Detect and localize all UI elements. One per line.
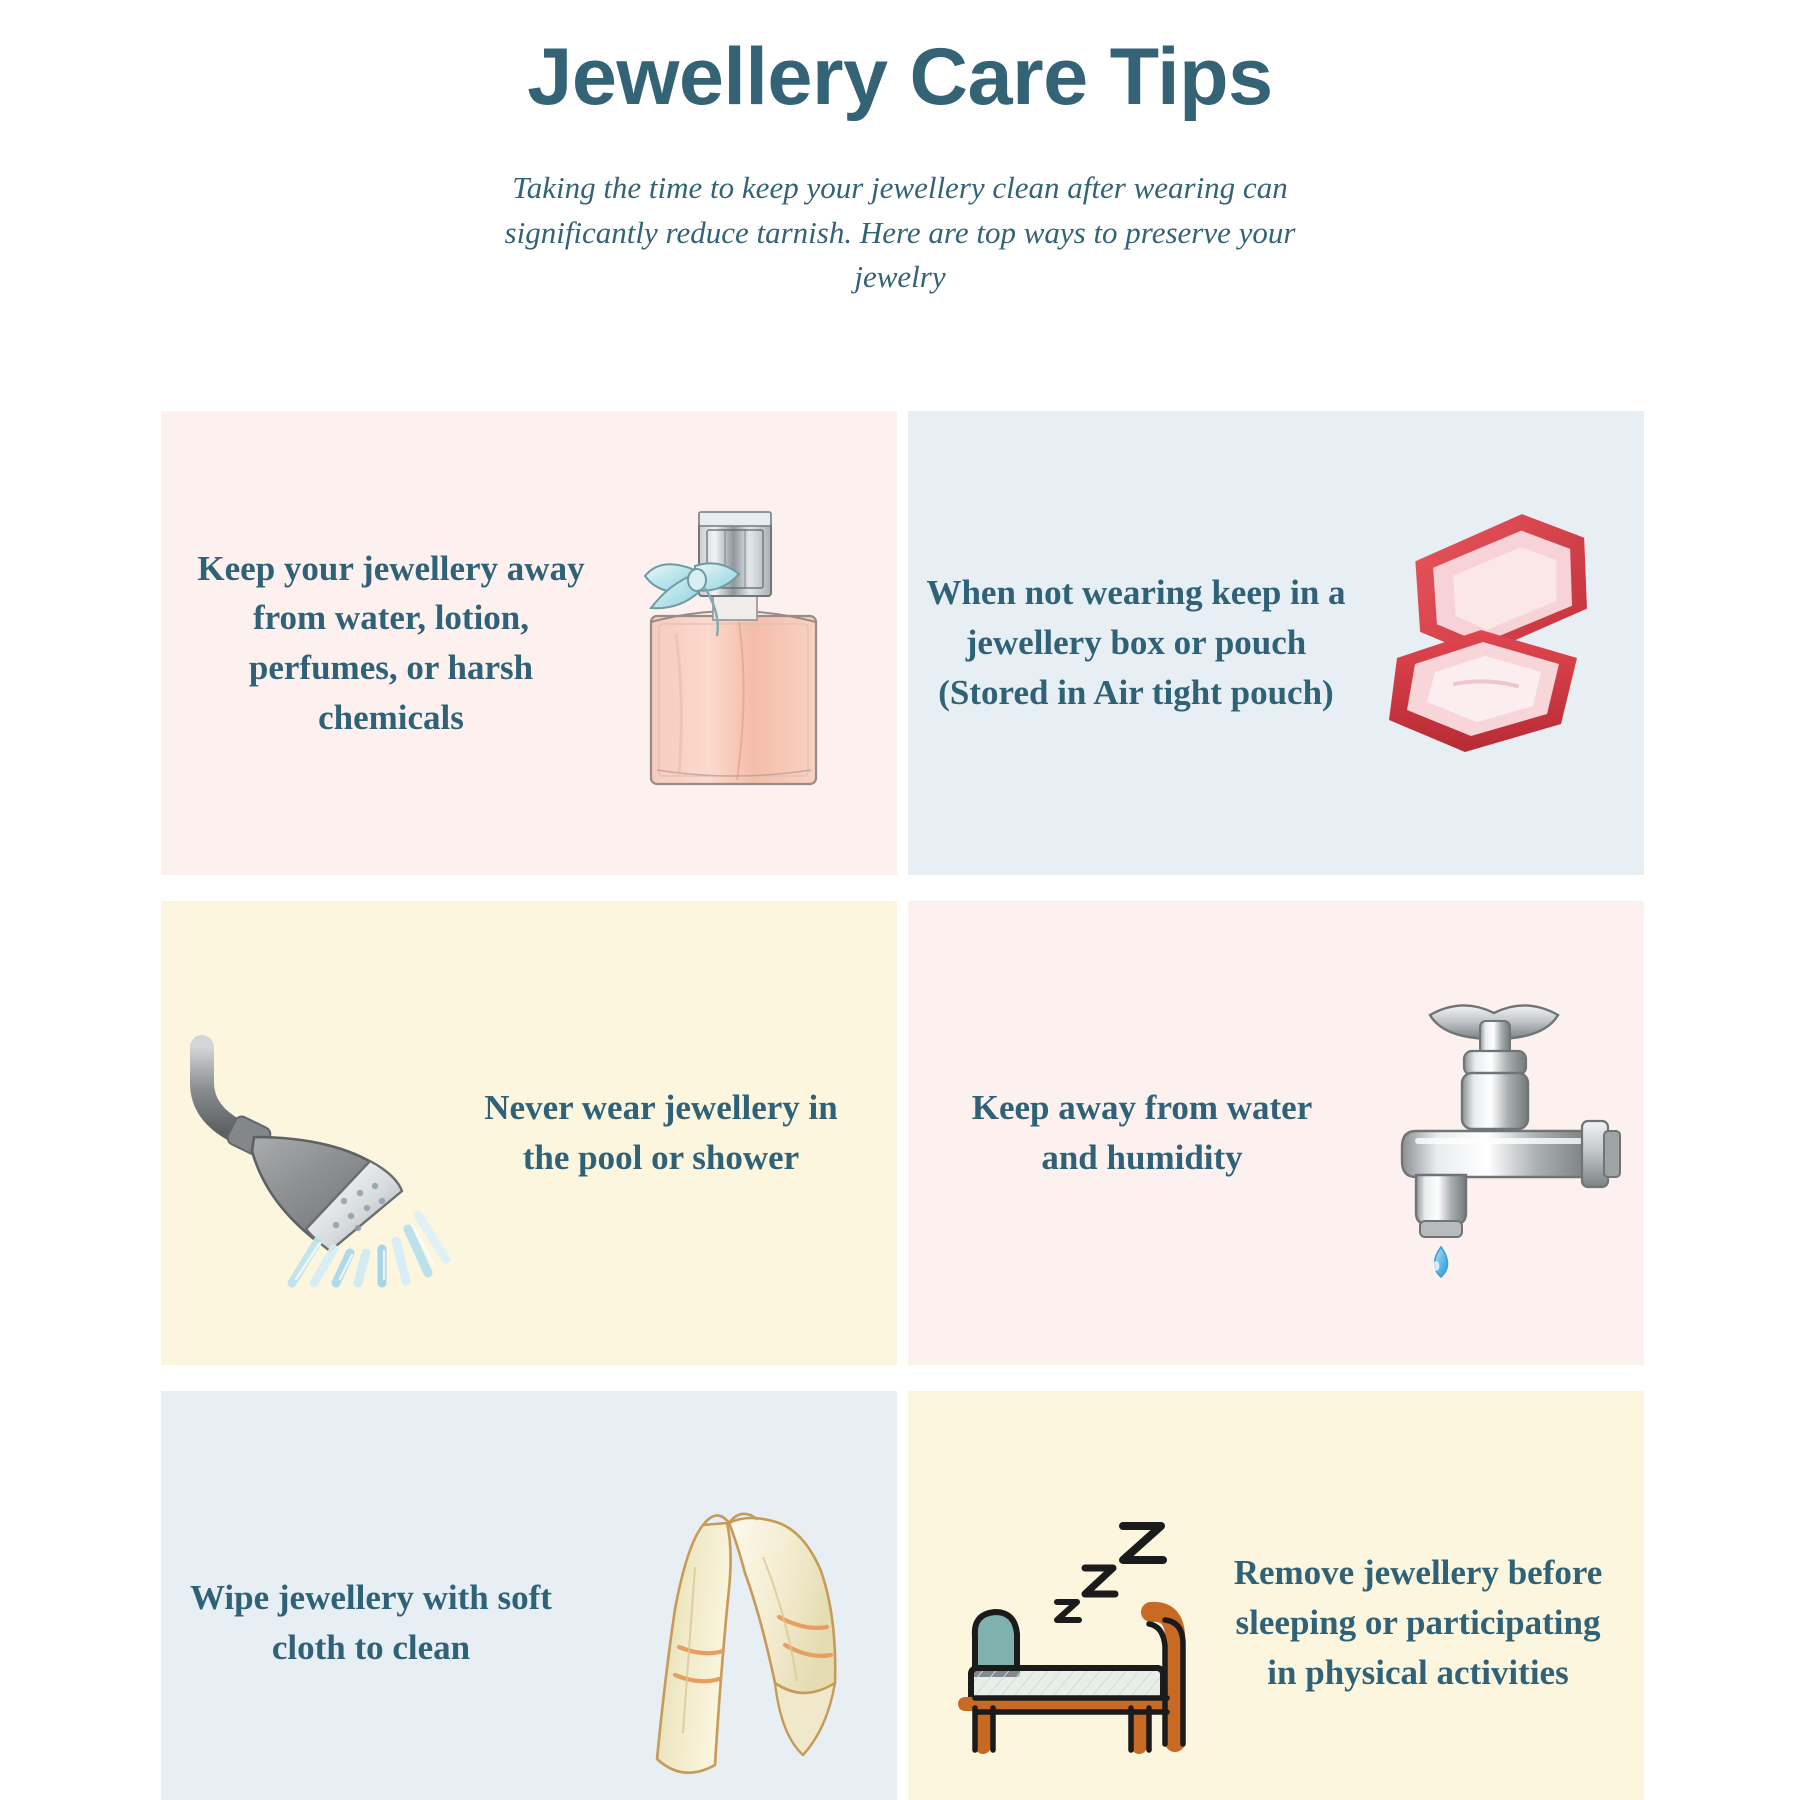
page-title: Jewellery Care Tips: [0, 30, 1800, 126]
shower-head-icon: [179, 1025, 479, 1285]
tip-card-label: Remove jewellery before sleeping or part…: [1228, 1548, 1608, 1697]
tip-card-label: Keep away from water and humidity: [942, 1083, 1342, 1182]
tips-grid: Keep your jewellery away from water, lot…: [161, 411, 1644, 1800]
tip-card-label: Wipe jewellery with soft cloth to clean: [171, 1573, 571, 1672]
tip-card-label: Never wear jewellery in the pool or show…: [461, 1083, 861, 1182]
cloth-icon: [579, 1497, 897, 1797]
jewellery-box-icon: [1346, 508, 1636, 758]
infographic-page: Jewellery Care Tips Taking the time to k…: [0, 0, 1800, 1800]
tip-card-remove-before-sleeping[interactable]: Remove jewellery before sleeping or part…: [908, 1391, 1644, 1800]
tip-card-no-pool-or-shower[interactable]: Never wear jewellery in the pool or show…: [161, 901, 897, 1365]
tip-card-keep-away-from-water[interactable]: Keep away from water and humidity: [908, 901, 1644, 1365]
water-tap-icon: [1356, 985, 1644, 1285]
tip-card-label: When not wearing keep in a jewellery box…: [926, 568, 1346, 717]
bed-sleeping-icon: [934, 1508, 1254, 1758]
tip-card-label: Keep your jewellery away from water, lot…: [181, 544, 601, 743]
perfume-bottle-icon: [601, 504, 891, 794]
tip-card-store-in-box[interactable]: When not wearing keep in a jewellery box…: [908, 411, 1644, 875]
tip-card-wipe-with-soft-cloth[interactable]: Wipe jewellery with soft cloth to clean: [161, 1391, 897, 1800]
header: Jewellery Care Tips Taking the time to k…: [0, 0, 1800, 300]
tip-card-keep-away-from-chemicals[interactable]: Keep your jewellery away from water, lot…: [161, 411, 897, 875]
page-subtitle: Taking the time to keep your jewellery c…: [500, 166, 1300, 301]
